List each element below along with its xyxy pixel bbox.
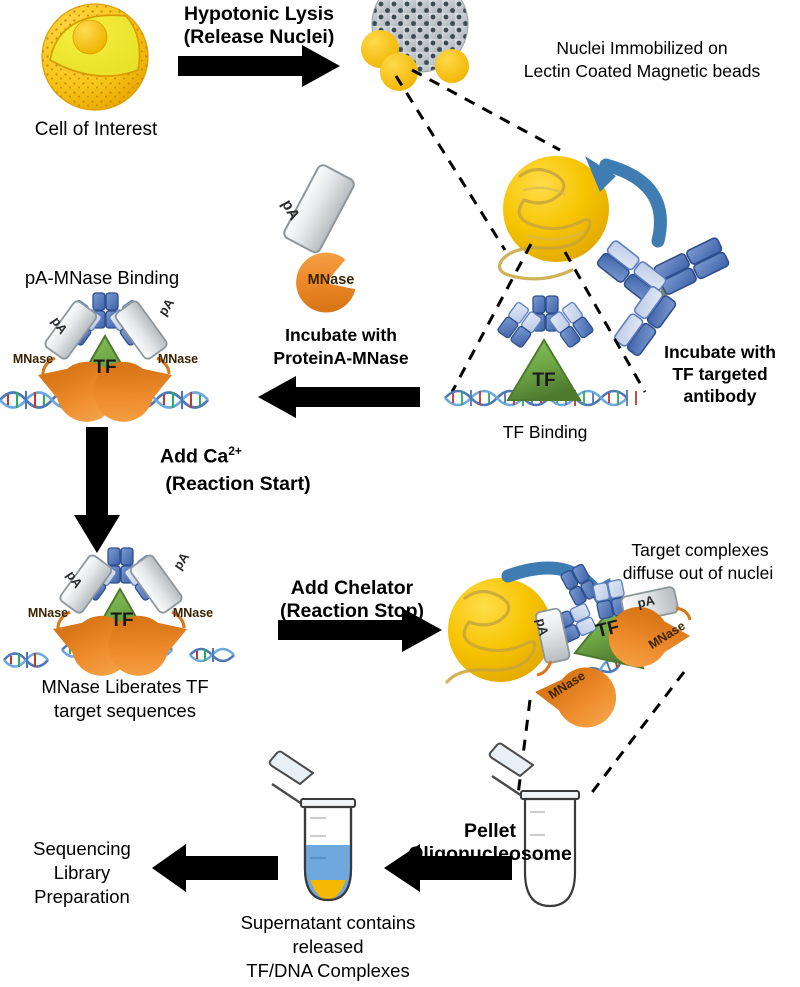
protein-a-mnase-icon: [282, 163, 362, 318]
tf-label-pa-binding: TF: [55, 357, 155, 379]
beads-label-line1: Nuclei Immobilized on: [484, 38, 800, 58]
diffused-tf-complex: [534, 563, 692, 743]
target-complexes-line1: Target complexes: [600, 540, 800, 560]
workflow-diagram: Cell of Interest Hypotonic Lysis (Releas…: [0, 0, 800, 987]
sequencing-line1: Sequencing: [12, 838, 152, 859]
add-chelator-line1: Add Chelator: [262, 577, 442, 599]
mnase-liberates-line2: target sequences: [0, 700, 250, 721]
nucleus-icon-top: [500, 156, 609, 279]
tf-label-liberates: TF: [72, 610, 172, 632]
antibody-incubation-line3: antibody: [640, 386, 800, 406]
add-calcium-line1: Add Ca2+: [160, 444, 242, 469]
antibody-incubation-line2: TF targeted: [640, 364, 800, 384]
sequencing-line3: Preparation: [12, 886, 152, 907]
mnase-liberates-line1: MNase Liberates TF: [0, 676, 250, 697]
pellet-line1: Pellet: [390, 820, 590, 842]
pellet-line2: Oligonucleosome: [368, 843, 612, 865]
antibody-on-tf-icon: [497, 296, 594, 348]
mnase-label-liberates-right: MNase: [160, 606, 226, 620]
antibody-incubation-line1: Incubate with: [640, 342, 800, 362]
proteina-mnase-line2: ProteinA-MNase: [256, 348, 426, 368]
target-complexes-line2: diffuse out of nuclei: [596, 563, 800, 583]
filled-tube-icon: [270, 752, 355, 901]
arrow-left-icon-sequencing: [152, 844, 278, 892]
beads-label-line2: Lectin Coated Magnetic beads: [484, 61, 800, 81]
hypotonic-lysis-label-line1: Hypotonic Lysis: [176, 3, 342, 25]
arrow-down-icon-calcium: [74, 427, 120, 553]
add-chelator-line2: (Reaction Stop): [252, 600, 452, 622]
magnetic-bead-cluster-icon: [361, 0, 469, 91]
supernatant-line1: Supernatant contains: [202, 912, 454, 933]
pa-mnase-binding-caption: pA-MNase Binding: [2, 267, 202, 288]
mnase-label-left: MNase: [0, 352, 66, 366]
supernatant-line2: released: [202, 936, 454, 957]
cell-caption: Cell of Interest: [0, 119, 192, 141]
mnase-label-right: MNase: [145, 352, 211, 366]
hypotonic-lysis-label-line2: (Release Nuclei): [176, 26, 342, 48]
mnase-label-free: MNase: [285, 272, 377, 289]
supernatant-line3: TF/DNA Complexes: [202, 960, 454, 981]
cell-icon: [42, 4, 148, 110]
arrow-left-icon-proteina: [258, 376, 420, 418]
add-calcium-line2: (Reaction Start): [128, 473, 348, 495]
proteina-mnase-line1: Incubate with: [256, 325, 426, 345]
calcium-superscript: 2+: [228, 444, 242, 458]
tf-label-binding: TF: [494, 370, 594, 392]
tf-binding-caption: TF Binding: [470, 422, 620, 442]
sequencing-line2: Library: [12, 862, 152, 883]
add-calcium-text: Add Ca: [160, 446, 228, 468]
arrow-right-icon-lysis: [178, 45, 340, 87]
mnase-label-liberates-left: MNase: [15, 606, 81, 620]
